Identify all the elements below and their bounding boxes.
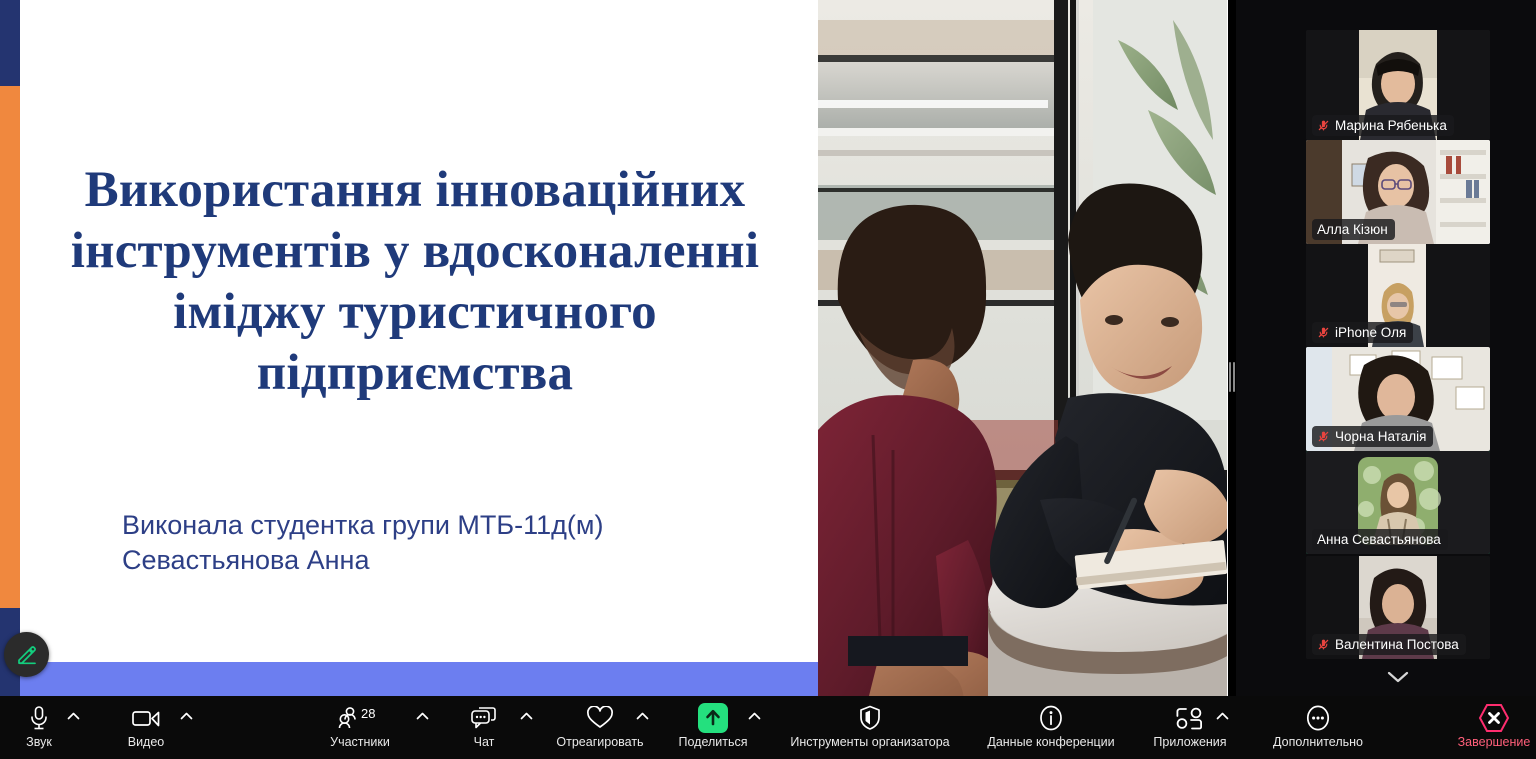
zoom-meeting-window: Використання інноваційних інструментів у… (0, 0, 1536, 759)
chevron-up-icon (67, 712, 80, 720)
toolbar-share-label: Поделиться (678, 735, 747, 749)
toolbar-audio-label: Звук (26, 735, 52, 749)
toolbar-end-meeting-label: Завершение (1458, 735, 1531, 749)
toolbar-host-tools-label: Инструменты организатора (790, 735, 949, 749)
participant-name: Анна Севастьянова (1317, 529, 1441, 550)
toolbar-video-label: Видео (128, 735, 165, 749)
apps-icon (1175, 704, 1205, 732)
participants-filmstrip[interactable]: Марина Рябенька (1236, 0, 1536, 696)
chevron-up-icon (748, 712, 761, 720)
audio-options-caret[interactable] (67, 712, 80, 720)
toolbar-chat-button[interactable]: Чат (455, 696, 513, 759)
panel-resize-handle[interactable] (1229, 360, 1235, 394)
participant-name: Алла Кізюн (1317, 219, 1388, 240)
participant-name-chip: iPhone Оля (1312, 322, 1413, 343)
toolbar-more-button[interactable]: Дополнительно (1248, 696, 1388, 759)
chevron-down-icon (1387, 670, 1409, 684)
microphone-icon (28, 704, 50, 732)
microphone-muted-icon (1317, 430, 1330, 443)
toolbar-apps-label: Приложения (1153, 735, 1226, 749)
toolbar-apps-button[interactable]: Приложения (1140, 696, 1240, 759)
microphone-muted-icon (1317, 326, 1330, 339)
slide-decor-navy-top (0, 0, 20, 86)
participant-name: iPhone Оля (1335, 322, 1406, 343)
chevron-up-icon (180, 712, 193, 720)
toolbar-meeting-info-label: Данные конференции (987, 735, 1114, 749)
ellipsis-icon (1304, 704, 1332, 732)
chevron-up-icon (520, 712, 533, 720)
share-up-arrow-icon (698, 704, 728, 732)
video-options-caret[interactable] (180, 712, 193, 720)
toolbar-participants-label: Участники (330, 735, 390, 749)
participant-name-chip: Валентина Постова (1312, 634, 1466, 655)
resize-grip-line (1229, 362, 1231, 392)
toolbar-reactions-label: Отреагировать (556, 735, 643, 749)
end-call-icon (1478, 704, 1510, 732)
participant-name: Чорна Наталія (1335, 426, 1426, 447)
slide-subtitle: Виконала студентка групи МТБ-11д(м) Сева… (122, 508, 762, 578)
slide-decor-bottom-band (20, 662, 818, 696)
toolbar-host-tools-button[interactable]: Инструменты организатора (775, 696, 965, 759)
reactions-options-caret[interactable] (636, 712, 649, 720)
participant-name-chip: Марина Рябенька (1312, 115, 1454, 136)
heart-icon (586, 704, 614, 732)
participant-name-chip: Алла Кізюн (1312, 219, 1395, 240)
apps-options-caret[interactable] (1216, 712, 1229, 720)
slide-decor-orange-bar (0, 86, 20, 608)
participant-tile[interactable]: Валентина Постова (1306, 556, 1490, 659)
chevron-up-icon (636, 712, 649, 720)
toolbar-more-label: Дополнительно (1273, 735, 1363, 749)
filmstrip-scroll-down-button[interactable] (1354, 660, 1442, 694)
toolbar-reactions-button[interactable]: Отреагировать (548, 696, 652, 759)
participant-name: Марина Рябенька (1335, 115, 1447, 136)
participant-tile[interactable]: iPhone Оля (1306, 244, 1490, 347)
toolbar-meeting-info-button[interactable]: Данные конференции (970, 696, 1132, 759)
meeting-toolbar: Звук Видео (0, 696, 1536, 759)
shield-icon (859, 704, 881, 732)
chevron-up-icon (416, 712, 429, 720)
toolbar-video-button[interactable]: Видео (112, 696, 180, 759)
chat-options-caret[interactable] (520, 712, 533, 720)
toolbar-audio-button[interactable]: Звук (8, 696, 70, 759)
info-icon (1038, 704, 1064, 732)
svg-text:28: 28 (361, 706, 375, 721)
slide-photo (818, 0, 1227, 696)
chat-icon (470, 704, 498, 732)
participants-icon: 28 (336, 704, 384, 732)
toolbar-share-button[interactable]: Поделиться (671, 696, 755, 759)
annotate-button[interactable] (4, 632, 49, 677)
share-options-caret[interactable] (748, 712, 761, 720)
pencil-icon (15, 643, 39, 667)
participant-tile[interactable]: Марина Рябенька (1306, 30, 1490, 140)
resize-grip-line (1233, 362, 1235, 392)
video-camera-icon (131, 704, 161, 732)
toolbar-participants-button[interactable]: 28 Участники (320, 696, 400, 759)
toolbar-end-meeting-button[interactable]: Завершение (1452, 696, 1536, 759)
participant-name-chip: Чорна Наталія (1312, 426, 1433, 447)
microphone-muted-icon (1317, 119, 1330, 132)
participant-tile[interactable]: Алла Кізюн (1306, 140, 1490, 244)
participant-name: Валентина Постова (1335, 634, 1459, 655)
toolbar-chat-label: Чат (474, 735, 495, 749)
participant-tile[interactable]: Чорна Наталія (1306, 347, 1490, 451)
slide-title: Використання інноваційних інструментів у… (30, 160, 800, 404)
participant-tile-active-speaker[interactable]: Анна Севастьянова (1306, 451, 1490, 554)
microphone-muted-icon (1317, 638, 1330, 651)
participants-options-caret[interactable] (416, 712, 429, 720)
chevron-up-icon (1216, 712, 1229, 720)
shared-screen-stage[interactable]: Використання інноваційних інструментів у… (0, 0, 1228, 696)
presentation-slide: Використання інноваційних інструментів у… (0, 0, 1228, 696)
participant-name-chip: Анна Севастьянова (1312, 529, 1448, 550)
